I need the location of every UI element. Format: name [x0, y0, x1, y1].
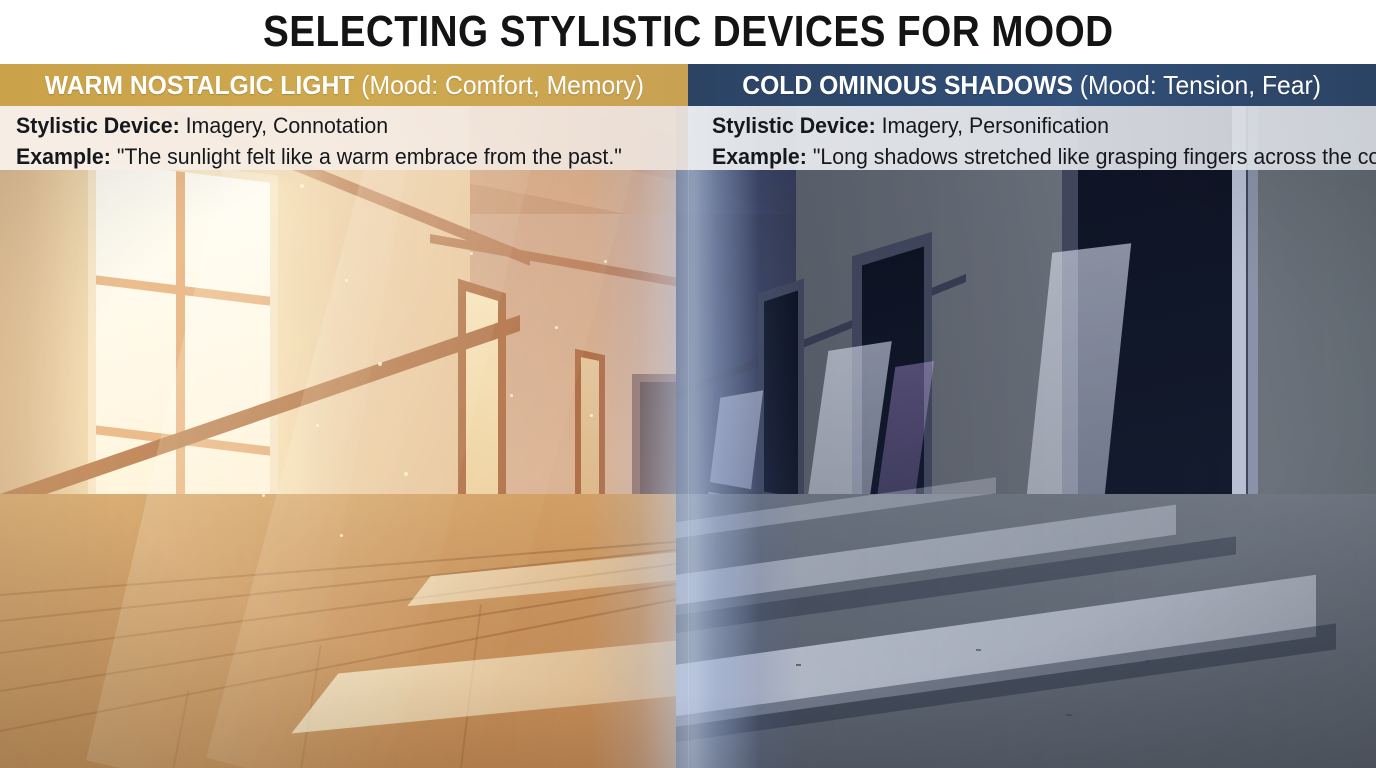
warm-info-panel: Stylistic Device: Imagery, Connotation E…: [0, 106, 688, 170]
warm-heading-main: WARM NOSTALGIC LIGHT: [44, 70, 354, 100]
cold-heading-main: COLD OMINOUS SHADOWS: [743, 70, 1074, 100]
floor-speckle: [976, 649, 981, 651]
dust-mote: [604, 260, 607, 263]
cold-example-value: "Long shadows stretched like grasping fi…: [813, 144, 1376, 169]
floor-speckle: [1066, 714, 1072, 716]
cold-heading-mood: (Mood: Tension, Fear): [1080, 70, 1321, 100]
warm-device-label: Stylistic Device:: [16, 113, 180, 138]
warm-device-line: Stylistic Device: Imagery, Connotation: [16, 110, 668, 141]
dust-mote: [340, 534, 343, 537]
slide-canvas: SELECTING STYLISTIC DEVICES FOR MOOD WAR…: [0, 0, 1376, 768]
title-bar: SELECTING STYLISTIC DEVICES FOR MOOD: [0, 0, 1376, 64]
warm-example-value: "The sunlight felt like a warm embrace f…: [117, 144, 622, 169]
dust-mote: [470, 252, 473, 255]
dust-mote: [300, 184, 304, 188]
cold-device-line: Stylistic Device: Imagery, Personificati…: [712, 110, 1356, 141]
cold-column-header-band: COLD OMINOUS SHADOWS (Mood: Tension, Fea…: [688, 64, 1376, 106]
floor-speckle: [881, 699, 887, 701]
floor-plank-joint: [173, 691, 190, 768]
page-title: SELECTING STYLISTIC DEVICES FOR MOOD: [263, 10, 1114, 54]
cold-example-label: Example:: [712, 144, 807, 169]
floor-speckle: [736, 724, 742, 726]
dust-mote: [378, 362, 382, 366]
dust-mote: [590, 414, 593, 417]
warm-device-value: Imagery, Connotation: [186, 113, 388, 138]
cold-example-line: Example: "Long shadows stretched like gr…: [712, 141, 1356, 170]
dust-mote: [510, 394, 513, 397]
warm-example-line: Example: "The sunlight felt like a warm …: [16, 141, 668, 170]
cold-info-panel: Stylistic Device: Imagery, Personificati…: [688, 106, 1376, 170]
warm-heading-mood: (Mood: Comfort, Memory): [361, 70, 644, 100]
dust-mote: [316, 424, 319, 427]
dust-mote: [262, 494, 265, 497]
dust-mote: [555, 326, 558, 329]
dust-mote: [345, 279, 348, 282]
floor-speckle: [796, 664, 801, 666]
cold-device-label: Stylistic Device:: [712, 113, 876, 138]
dust-mote: [404, 472, 408, 476]
cold-device-value: Imagery, Personification: [882, 113, 1109, 138]
cold-heading: COLD OMINOUS SHADOWS (Mood: Tension, Fea…: [743, 72, 1322, 98]
warm-heading: WARM NOSTALGIC LIGHT (Mood: Comfort, Mem…: [44, 72, 643, 98]
warm-example-label: Example:: [16, 144, 111, 169]
warm-column-header-band: WARM NOSTALGIC LIGHT (Mood: Comfort, Mem…: [0, 64, 688, 106]
floor-speckle: [1146, 660, 1151, 662]
